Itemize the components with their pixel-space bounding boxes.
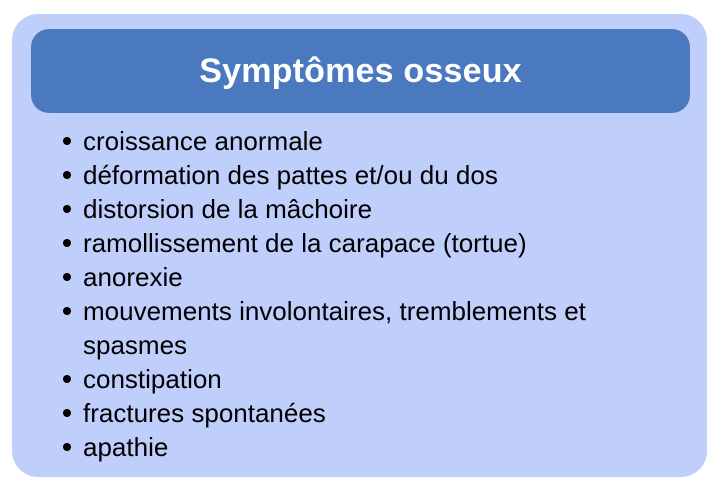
- list-item-label: fractures spontanées: [63, 396, 326, 430]
- list-item-label: déformation des pattes et/ou du dos: [63, 158, 498, 192]
- bullet-icon: [63, 239, 71, 247]
- list-item: constipation: [12, 362, 707, 396]
- list-item: apathie: [12, 430, 707, 464]
- list-item-label: croissance anormale: [63, 124, 323, 158]
- bullet-icon: [63, 307, 71, 315]
- card-header-banner: Symptômes osseux: [31, 29, 690, 113]
- bullet-icon: [63, 409, 71, 417]
- list-item: distorsion de la mâchoire: [12, 192, 707, 226]
- page-title: Symptômes osseux: [199, 54, 522, 88]
- symptom-list: croissance anormale déformation des patt…: [12, 124, 707, 464]
- symptoms-card: Symptômes osseux croissance anormale déf…: [12, 14, 707, 477]
- bullet-icon: [63, 273, 71, 281]
- bullet-icon: [63, 171, 71, 179]
- list-item-label: mouvements involontaires, tremblements e…: [63, 294, 683, 362]
- bullet-icon: [63, 205, 71, 213]
- bullet-icon: [63, 137, 71, 145]
- list-item: anorexie: [12, 260, 707, 294]
- list-item: croissance anormale: [12, 124, 707, 158]
- list-item: mouvements involontaires, tremblements e…: [12, 294, 707, 362]
- list-item-label: ramollissement de la carapace (tortue): [63, 226, 527, 260]
- bullet-icon: [63, 375, 71, 383]
- list-item-label: distorsion de la mâchoire: [63, 192, 372, 226]
- list-item-label: constipation: [63, 362, 222, 396]
- list-item-label: anorexie: [63, 260, 183, 294]
- bullet-icon: [63, 443, 71, 451]
- list-item: fractures spontanées: [12, 396, 707, 430]
- list-item: ramollissement de la carapace (tortue): [12, 226, 707, 260]
- list-item: déformation des pattes et/ou du dos: [12, 158, 707, 192]
- list-item-label: apathie: [63, 430, 168, 464]
